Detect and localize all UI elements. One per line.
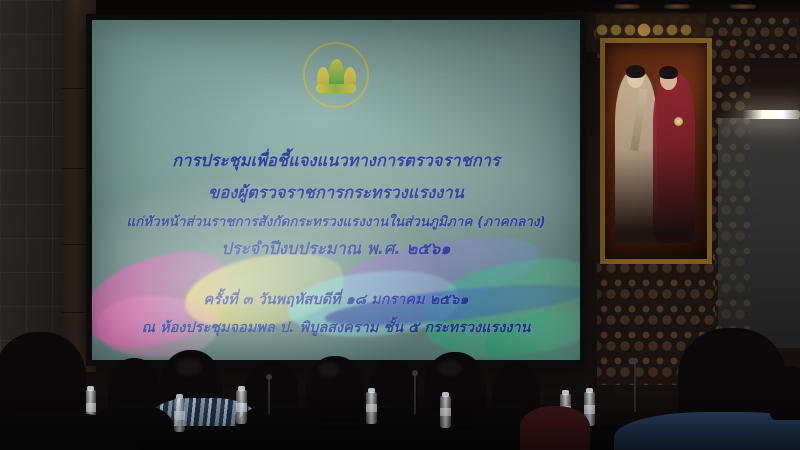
ceiling-lamp-2 [664,4,690,9]
portrait-hair-queen [659,66,678,79]
portrait-medal [674,117,683,126]
conference-room-photo: การประชุมเพื่อชี้แจงแนวทางการตรวจราชการ … [0,0,800,450]
portrait-hair-king [626,65,645,78]
water-bottle [440,396,451,428]
water-bottle [236,390,247,424]
portrait-pediment [596,14,706,40]
portrait-figure-king [615,71,657,243]
attendee-silhouette [770,366,800,420]
microphone [414,374,416,414]
portrait-figure-queen [653,73,695,243]
audience-seating [0,300,800,450]
microphone [634,362,636,412]
royal-portrait [600,14,702,256]
water-bottle [174,398,185,432]
ceiling-lamp-3 [730,4,756,9]
ceiling-lamp-1 [614,4,640,9]
attendee-silhouette [520,406,590,450]
fluorescent-tube-light [742,110,800,119]
portrait-frame [600,38,712,264]
microphone [268,378,270,414]
water-bottle [366,392,377,424]
